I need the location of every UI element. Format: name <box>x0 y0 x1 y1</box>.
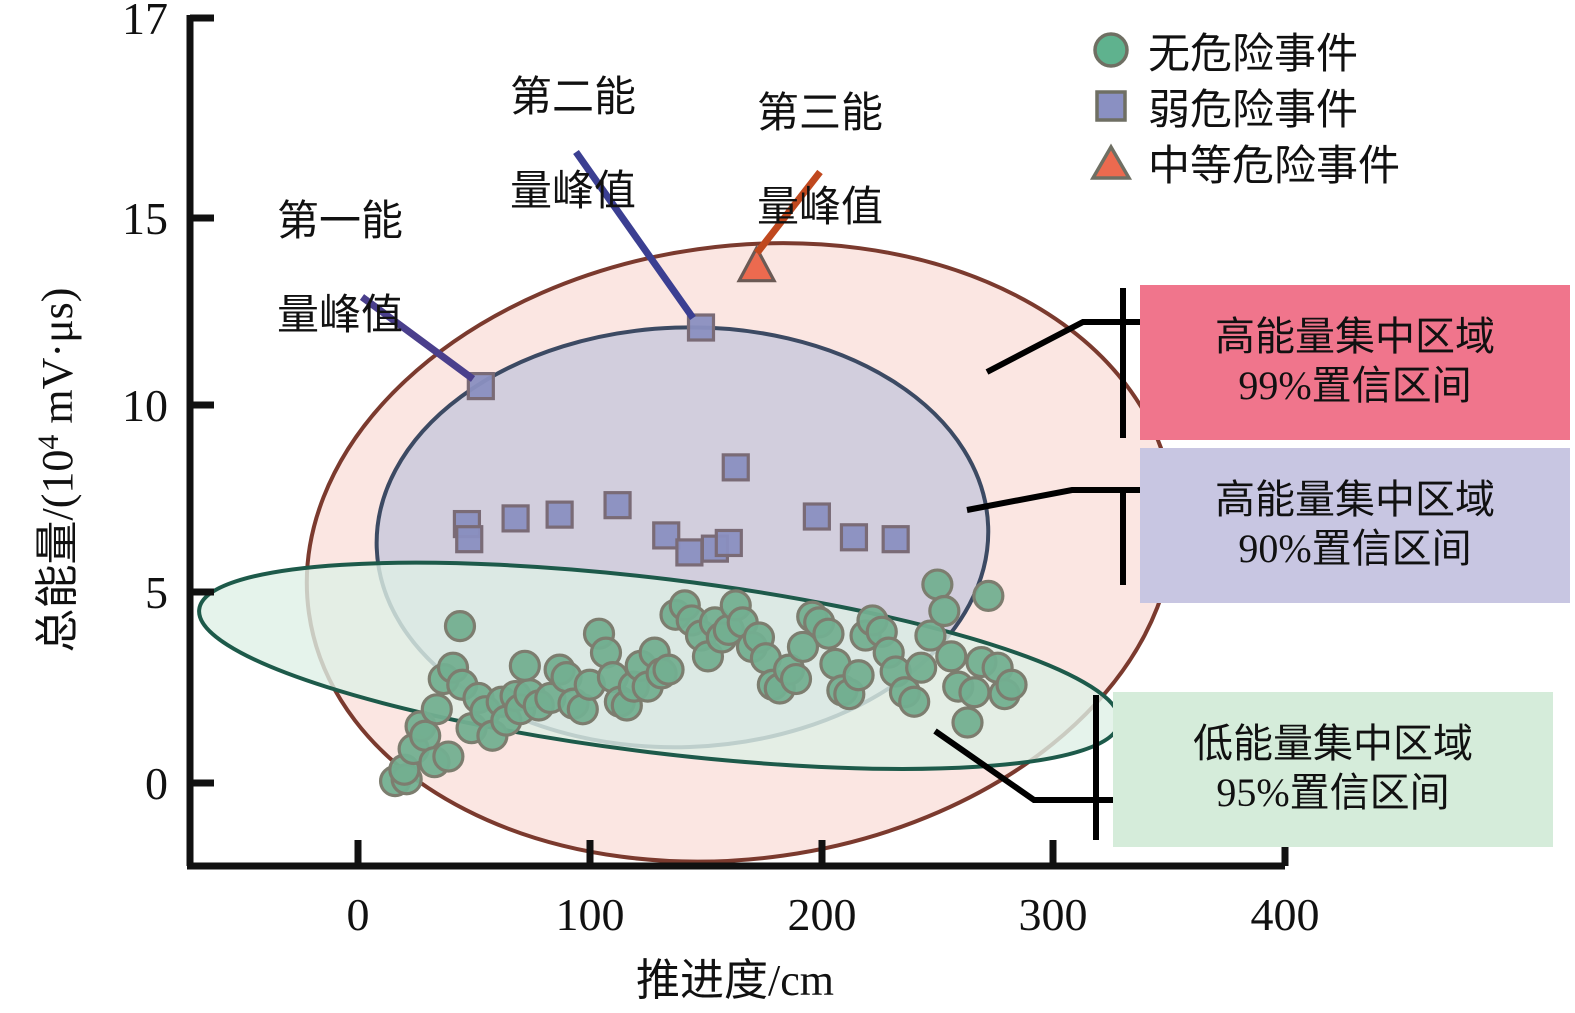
data-point <box>510 651 539 680</box>
x-tick-label-200: 200 <box>788 889 857 940</box>
data-point <box>883 527 908 552</box>
callout-peak3: 第三能 量峰值 <box>725 44 915 279</box>
data-point <box>804 504 829 529</box>
legend-label-2: 中等危险事件 <box>1148 132 1400 193</box>
infobox-low-95: 低能量集中区域 95%置信区间 <box>1113 692 1553 847</box>
square-marker-icon <box>1088 85 1134 127</box>
data-point <box>422 695 451 724</box>
infobox-high-99: 高能量集中区域 99%置信区间 <box>1140 285 1570 440</box>
infobox-low-95-line1: 低能量集中区域 <box>1193 720 1473 769</box>
y-axis-title-main: 总能量/(10 <box>33 450 82 653</box>
infobox-high-90-line2: 90%置信区间 <box>1238 525 1471 574</box>
data-point <box>907 653 936 682</box>
legend-item-1[interactable]: 弱危险事件 <box>1088 78 1400 134</box>
x-tick-label-300: 300 <box>1019 889 1088 940</box>
callout-peak1-line1: 第一能 <box>245 199 435 246</box>
data-point <box>411 721 440 750</box>
x-tick-label-0: 0 <box>347 889 370 940</box>
data-point <box>688 315 713 340</box>
data-point <box>547 502 572 527</box>
callout-peak2-line2: 量峰值 <box>478 169 668 216</box>
circle-marker-icon <box>1088 29 1134 71</box>
x-tick-labels: 0 100 200 300 400 <box>347 889 1320 940</box>
data-point <box>605 493 630 518</box>
legend-label-0: 无危险事件 <box>1148 20 1358 81</box>
y-tick-label-15: 15 <box>122 193 168 244</box>
y-tick-label-10: 10 <box>122 380 168 431</box>
data-point <box>503 506 528 531</box>
y-axis-title-sup: 4 <box>32 435 65 450</box>
infobox-high-90: 高能量集中区域 90%置信区间 <box>1140 448 1570 603</box>
legend-label-1: 弱危险事件 <box>1148 76 1358 137</box>
data-point <box>814 619 843 648</box>
data-point <box>654 655 683 684</box>
data-point <box>953 708 982 737</box>
triangle-marker-icon <box>1088 141 1134 183</box>
data-point <box>923 570 952 599</box>
data-point <box>723 455 748 480</box>
y-tick-label-5: 5 <box>145 567 168 618</box>
infobox-low-95-line2: 95%置信区间 <box>1216 769 1449 818</box>
x-axis-title: 推进度/cm <box>636 956 834 1005</box>
data-point <box>930 597 959 626</box>
callout-peak3-line2: 量峰值 <box>725 185 915 232</box>
data-point <box>716 530 741 555</box>
y-tick-label-0: 0 <box>145 758 168 809</box>
callout-peak2: 第二能 量峰值 <box>478 28 668 263</box>
legend-item-2[interactable]: 中等危险事件 <box>1088 134 1400 190</box>
data-point <box>677 540 702 565</box>
callout-peak2-line1: 第二能 <box>478 75 668 122</box>
data-point <box>844 661 873 690</box>
data-point <box>937 642 966 671</box>
x-tick-label-400: 400 <box>1251 889 1320 940</box>
data-point <box>457 527 482 552</box>
infobox-high-99-line1: 高能量集中区域 <box>1215 313 1495 362</box>
callout-peak1-line2: 量峰值 <box>245 293 435 340</box>
callout-peak1: 第一能 量峰值 <box>245 152 435 387</box>
data-point <box>445 612 474 641</box>
y-axis-title-tail: mV·μs) <box>33 288 82 435</box>
data-point <box>841 525 866 550</box>
data-point <box>654 523 679 548</box>
y-axis-title: 总能量/(104 mV·μs) <box>32 288 82 653</box>
chart-root: 17 15 10 5 0 0 100 200 300 400 推进度/cm 总能… <box>0 0 1575 1013</box>
x-tick-label-100: 100 <box>556 889 625 940</box>
data-point <box>960 678 989 707</box>
data-point <box>974 581 1003 610</box>
infobox-high-90-line1: 高能量集中区域 <box>1215 476 1495 525</box>
svg-text:总能量/(104 mV·μs): 总能量/(104 mV·μs) <box>32 288 82 653</box>
data-point <box>434 742 463 771</box>
y-tick-labels: 17 15 10 5 0 <box>122 0 168 809</box>
y-tick-label-17: 17 <box>122 0 168 44</box>
data-point <box>782 665 811 694</box>
data-point <box>900 687 929 716</box>
infobox-high-99-line2: 99%置信区间 <box>1238 362 1471 411</box>
legend: 无危险事件 弱危险事件 中等危险事件 <box>1088 22 1400 190</box>
legend-item-0[interactable]: 无危险事件 <box>1088 22 1400 78</box>
data-point <box>997 670 1026 699</box>
callout-peak3-line1: 第三能 <box>725 91 915 138</box>
